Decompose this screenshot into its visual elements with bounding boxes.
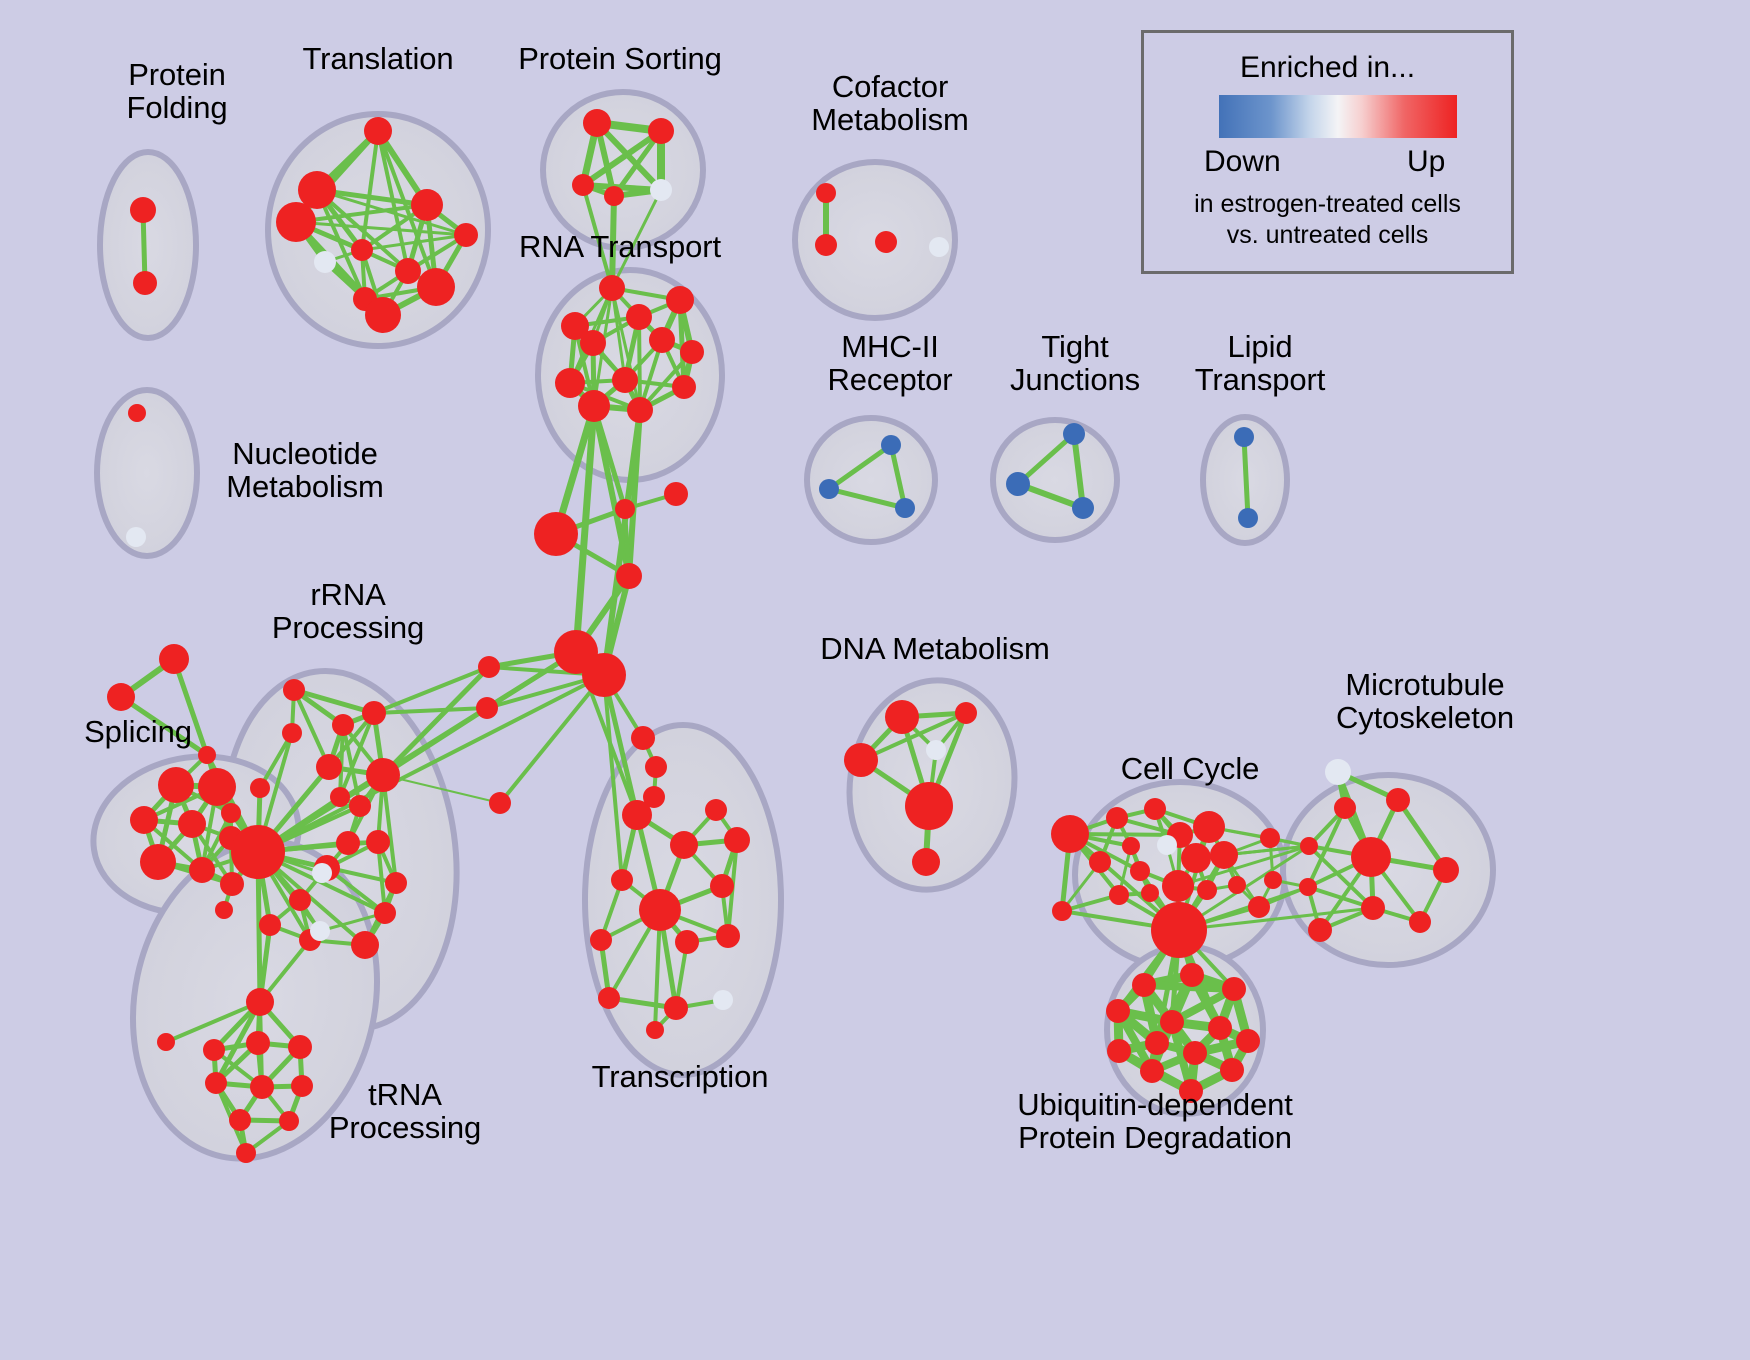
legend-up-label: Up	[1407, 145, 1445, 179]
cluster-ellipse-protein-sorting	[543, 92, 703, 248]
network-node[interactable]	[1325, 759, 1351, 785]
network-node[interactable]	[580, 330, 606, 356]
network-node[interactable]	[1162, 870, 1194, 902]
network-node[interactable]	[1130, 861, 1150, 881]
network-node[interactable]	[1160, 1010, 1184, 1034]
network-node[interactable]	[1157, 835, 1177, 855]
network-node[interactable]	[648, 118, 674, 144]
network-node[interactable]	[645, 756, 667, 778]
cluster-ellipse-nucleotide-metabolism	[97, 390, 197, 556]
network-node[interactable]	[680, 340, 704, 364]
network-node[interactable]	[631, 726, 655, 750]
network-node[interactable]	[364, 117, 392, 145]
network-node[interactable]	[582, 653, 626, 697]
network-node[interactable]	[598, 987, 620, 1009]
network-node[interactable]	[572, 174, 594, 196]
cluster-label-lipid-transport: Lipid Transport	[1170, 330, 1350, 397]
network-node[interactable]	[130, 806, 158, 834]
network-node[interactable]	[615, 499, 635, 519]
network-node[interactable]	[1063, 423, 1085, 445]
network-node[interactable]	[627, 397, 653, 423]
network-node[interactable]	[1386, 788, 1410, 812]
network-node[interactable]	[1334, 797, 1356, 819]
network-node[interactable]	[1264, 871, 1282, 889]
network-node[interactable]	[1107, 1039, 1131, 1063]
network-node[interactable]	[178, 810, 206, 838]
network-node[interactable]	[955, 702, 977, 724]
network-node[interactable]	[374, 902, 396, 924]
network-node[interactable]	[314, 251, 336, 273]
network-node[interactable]	[130, 197, 156, 223]
network-node[interactable]	[351, 931, 379, 959]
network-node[interactable]	[599, 275, 625, 301]
network-node[interactable]	[1248, 896, 1270, 918]
network-node[interactable]	[895, 498, 915, 518]
network-node[interactable]	[330, 787, 350, 807]
network-node[interactable]	[1197, 880, 1217, 900]
network-node[interactable]	[578, 390, 610, 422]
network-node[interactable]	[583, 109, 611, 137]
network-node[interactable]	[815, 234, 837, 256]
network-node[interactable]	[107, 683, 135, 711]
network-node[interactable]	[454, 223, 478, 247]
network-node[interactable]	[1299, 878, 1317, 896]
network-edge	[500, 675, 604, 803]
network-node[interactable]	[140, 844, 176, 880]
network-node[interactable]	[626, 304, 652, 330]
network-node[interactable]	[366, 758, 400, 792]
network-node[interactable]	[705, 799, 727, 821]
network-node[interactable]	[1122, 837, 1140, 855]
network-node[interactable]	[1308, 918, 1332, 942]
network-node[interactable]	[283, 679, 305, 701]
network-node[interactable]	[646, 1021, 664, 1039]
cluster-label-translation: Translation	[283, 42, 473, 75]
legend-color-bar	[1219, 95, 1457, 138]
network-node[interactable]	[666, 286, 694, 314]
network-node[interactable]	[310, 921, 330, 941]
network-node[interactable]	[1006, 472, 1030, 496]
network-node[interactable]	[819, 479, 839, 499]
legend-caption: in estrogen-treated cells vs. untreated …	[1144, 189, 1511, 250]
network-node[interactable]	[672, 375, 696, 399]
network-node[interactable]	[220, 872, 244, 896]
cluster-ellipse-protein-folding	[100, 152, 196, 338]
network-node[interactable]	[276, 202, 316, 242]
network-node[interactable]	[1145, 1031, 1169, 1055]
network-node[interactable]	[1351, 837, 1391, 877]
network-node[interactable]	[1236, 1029, 1260, 1053]
cluster-label-nucleotide-metabolism: Nucleotide Metabolism	[195, 437, 415, 504]
network-node[interactable]	[126, 527, 146, 547]
network-node[interactable]	[205, 1072, 227, 1094]
network-node[interactable]	[1144, 798, 1166, 820]
network-node[interactable]	[844, 743, 878, 777]
network-node[interactable]	[611, 869, 633, 891]
cluster-label-protein-folding: Protein Folding	[82, 58, 272, 125]
network-edge	[374, 667, 489, 713]
network-node[interactable]	[875, 231, 897, 253]
network-node[interactable]	[1089, 851, 1111, 873]
network-node[interactable]	[1072, 497, 1094, 519]
network-node[interactable]	[395, 258, 421, 284]
network-node[interactable]	[198, 768, 236, 806]
network-node[interactable]	[1300, 837, 1318, 855]
cluster-label-tight-junctions: Tight Junctions	[985, 330, 1165, 397]
legend-down-label: Down	[1204, 145, 1281, 179]
network-node[interactable]	[1234, 427, 1254, 447]
network-node[interactable]	[246, 988, 274, 1016]
network-node[interactable]	[250, 778, 270, 798]
network-node[interactable]	[316, 754, 342, 780]
network-node[interactable]	[881, 435, 901, 455]
network-node[interactable]	[1409, 911, 1431, 933]
cluster-label-cofactor-metabolism: Cofactor Metabolism	[790, 70, 990, 137]
network-node[interactable]	[349, 795, 371, 817]
network-node[interactable]	[1052, 901, 1072, 921]
cluster-label-cell-cycle: Cell Cycle	[1100, 752, 1280, 785]
cluster-label-splicing: Splicing	[58, 715, 218, 748]
network-node[interactable]	[616, 563, 642, 589]
network-node[interactable]	[366, 830, 390, 854]
network-node[interactable]	[236, 1143, 256, 1163]
cluster-label-rna-transport: RNA Transport	[505, 230, 735, 263]
network-node[interactable]	[650, 179, 672, 201]
network-node[interactable]	[478, 656, 500, 678]
network-node[interactable]	[1106, 807, 1128, 829]
enrichment-network-figure: Protein FoldingTranslationProtein Sortin…	[0, 0, 1750, 1360]
legend-panel: Enriched in... Down Up in estrogen-treat…	[1141, 30, 1514, 274]
cluster-label-rrna-processing: rRNA Processing	[248, 578, 448, 645]
network-node[interactable]	[365, 297, 401, 333]
network-node[interactable]	[476, 697, 498, 719]
network-node[interactable]	[362, 701, 386, 725]
network-node[interactable]	[555, 368, 585, 398]
network-node[interactable]	[1220, 1058, 1244, 1082]
network-node[interactable]	[411, 189, 443, 221]
network-node[interactable]	[159, 644, 189, 674]
network-node[interactable]	[1181, 843, 1211, 873]
network-node[interactable]	[1260, 828, 1280, 848]
network-node[interactable]	[312, 863, 332, 883]
network-node[interactable]	[246, 1031, 270, 1055]
network-node[interactable]	[259, 914, 281, 936]
cluster-label-microtubule-cytoskeleton: Microtubule Cytoskeleton	[1305, 668, 1545, 735]
network-node[interactable]	[1183, 1041, 1207, 1065]
network-node[interactable]	[885, 700, 919, 734]
network-node[interactable]	[710, 874, 734, 898]
network-node[interactable]	[289, 889, 311, 911]
network-node[interactable]	[1132, 973, 1156, 997]
legend-title: Enriched in...	[1144, 51, 1511, 85]
network-node[interactable]	[639, 889, 681, 931]
network-node[interactable]	[929, 237, 949, 257]
network-node[interactable]	[926, 740, 946, 760]
network-node[interactable]	[189, 857, 215, 883]
network-node[interactable]	[1433, 857, 1459, 883]
network-node[interactable]	[1051, 815, 1089, 853]
network-node[interactable]	[158, 767, 194, 803]
network-node[interactable]	[912, 848, 940, 876]
network-node[interactable]	[385, 872, 407, 894]
network-node[interactable]	[231, 825, 285, 879]
cluster-label-transcription: Transcription	[570, 1060, 790, 1093]
network-node[interactable]	[622, 800, 652, 830]
network-node[interactable]	[1238, 508, 1258, 528]
network-node[interactable]	[1228, 876, 1246, 894]
network-node[interactable]	[649, 327, 675, 353]
cluster-label-trna-processing: tRNA Processing	[305, 1078, 505, 1145]
network-node[interactable]	[713, 990, 733, 1010]
network-node[interactable]	[288, 1035, 312, 1059]
network-node[interactable]	[1109, 885, 1129, 905]
network-node[interactable]	[489, 792, 511, 814]
network-node[interactable]	[1193, 811, 1225, 843]
network-node[interactable]	[590, 929, 612, 951]
cluster-label-protein-sorting: Protein Sorting	[505, 42, 735, 75]
network-node[interactable]	[332, 714, 354, 736]
network-node[interactable]	[282, 723, 302, 743]
network-node[interactable]	[724, 827, 750, 853]
network-node[interactable]	[229, 1109, 251, 1131]
cluster-label-mhc-ii-receptor: MHC-II Receptor	[800, 330, 980, 397]
network-node[interactable]	[128, 404, 146, 422]
network-node[interactable]	[1141, 884, 1159, 902]
network-node[interactable]	[664, 996, 688, 1020]
network-node[interactable]	[133, 271, 157, 295]
network-node[interactable]	[157, 1033, 175, 1051]
network-node[interactable]	[816, 183, 836, 203]
network-node[interactable]	[1180, 963, 1204, 987]
network-node[interactable]	[221, 803, 241, 823]
network-node[interactable]	[664, 482, 688, 506]
network-node[interactable]	[716, 924, 740, 948]
network-node[interactable]	[351, 239, 373, 261]
network-node[interactable]	[1208, 1016, 1232, 1040]
network-node[interactable]	[670, 831, 698, 859]
network-node[interactable]	[417, 268, 455, 306]
network-node[interactable]	[534, 512, 578, 556]
network-node[interactable]	[604, 186, 624, 206]
network-node[interactable]	[1140, 1059, 1164, 1083]
network-node[interactable]	[198, 746, 216, 764]
network-node[interactable]	[215, 901, 233, 919]
network-node[interactable]	[279, 1111, 299, 1131]
network-node[interactable]	[203, 1039, 225, 1061]
network-node[interactable]	[298, 171, 336, 209]
network-node[interactable]	[1222, 977, 1246, 1001]
network-node[interactable]	[1210, 841, 1238, 869]
network-node[interactable]	[612, 367, 638, 393]
network-node[interactable]	[336, 831, 360, 855]
network-node[interactable]	[1106, 999, 1130, 1023]
network-node[interactable]	[250, 1075, 274, 1099]
network-node[interactable]	[675, 930, 699, 954]
network-node[interactable]	[1361, 896, 1385, 920]
cluster-label-dna-metabolism: DNA Metabolism	[810, 632, 1060, 665]
network-node[interactable]	[1151, 902, 1207, 958]
cluster-label-ubiquitin-degradation: Ubiquitin-dependent Protein Degradation	[990, 1088, 1320, 1155]
network-node[interactable]	[905, 782, 953, 830]
